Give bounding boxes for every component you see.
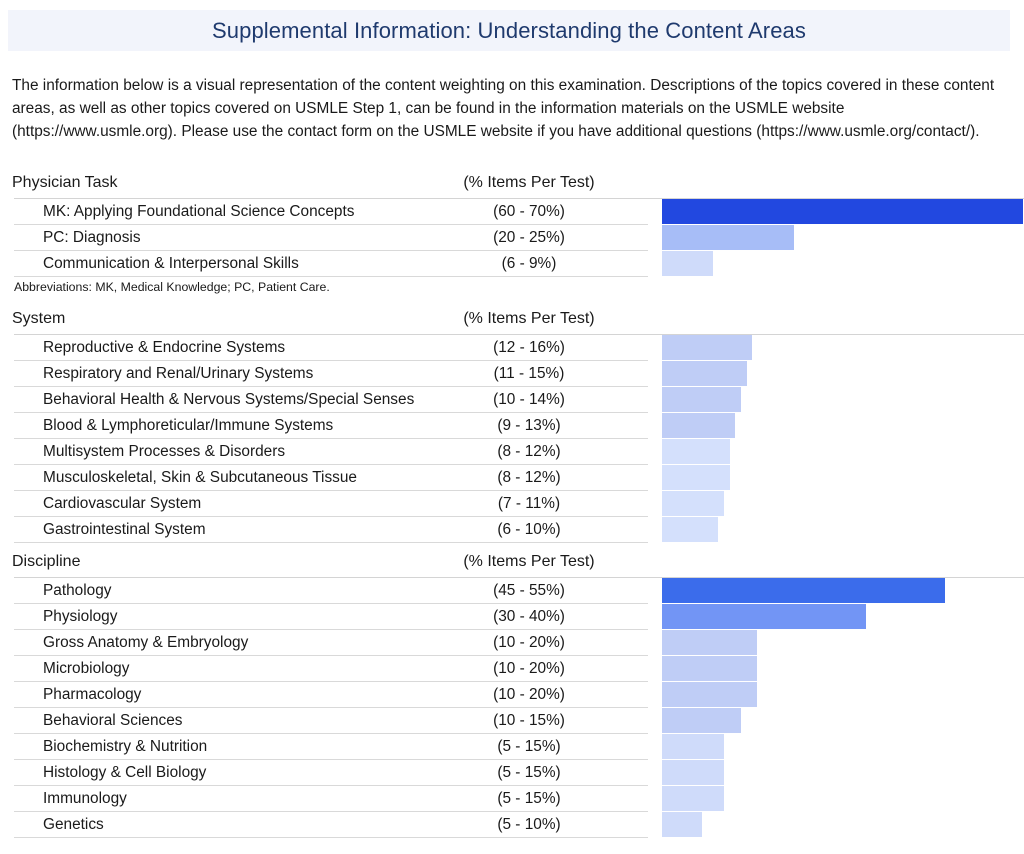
row-percent-range: (10 - 20%) [400,686,658,704]
row-label: Communication & Interpersonal Skills [43,255,299,273]
section-rows: Reproductive & Endocrine Systems(12 - 16… [14,334,1024,543]
row-label: Histology & Cell Biology [43,764,206,782]
section-footnote: Abbreviations: MK, Medical Knowledge; PC… [14,280,330,294]
section-rows: MK: Applying Foundational Science Concep… [14,198,1024,277]
row-label: Blood & Lymphoreticular/Immune Systems [43,417,333,435]
row-percent-range: (10 - 20%) [400,660,658,678]
row-label: Microbiology [43,660,129,678]
row-percent-range: (10 - 20%) [400,634,658,652]
table-row: Pathology(45 - 55%) [14,578,1024,604]
table-row: Immunology(5 - 15%) [14,786,1024,812]
table-row: Microbiology(10 - 20%) [14,656,1024,682]
row-bar [662,491,724,517]
section-unit-header: (% Items Per Test) [400,553,658,571]
row-label: Respiratory and Renal/Urinary Systems [43,365,313,383]
row-percent-range: (5 - 15%) [400,738,658,756]
table-row: Blood & Lymphoreticular/Immune Systems(9… [14,413,1024,439]
row-label: Gastrointestinal System [43,521,206,539]
page-title-band: Supplemental Information: Understanding … [8,10,1010,51]
row-label: Pharmacology [43,686,141,704]
row-bar [662,465,730,491]
row-bar [662,578,945,604]
table-row: Pharmacology(10 - 20%) [14,682,1024,708]
section-rows: Pathology(45 - 55%)Physiology(30 - 40%)G… [14,577,1024,838]
table-row: Biochemistry & Nutrition(5 - 15%) [14,734,1024,760]
row-bar [662,786,724,812]
row-label: Multisystem Processes & Disorders [43,443,285,461]
row-percent-range: (8 - 12%) [400,443,658,461]
section-physician-task: Physician Task(% Items Per Test)MK: Appl… [0,174,1024,277]
row-bar [662,335,752,361]
section-header: System(% Items Per Test) [0,310,1024,334]
row-bar [662,734,724,760]
table-row: Gastrointestinal System(6 - 10%) [14,517,1024,543]
row-label: Biochemistry & Nutrition [43,738,207,756]
row-bar [662,413,735,439]
row-bar [662,604,866,630]
table-row: Reproductive & Endocrine Systems(12 - 16… [14,335,1024,361]
row-percent-range: (60 - 70%) [400,203,658,221]
row-percent-range: (5 - 10%) [400,816,658,834]
row-percent-range: (6 - 9%) [400,255,658,273]
section-header: Physician Task(% Items Per Test) [0,174,1024,198]
row-label: PC: Diagnosis [43,229,141,247]
row-bar [662,251,713,277]
table-row: Cardiovascular System(7 - 11%) [14,491,1024,517]
row-label: Physiology [43,608,117,626]
row-label: Behavioral Sciences [43,712,182,730]
table-row: Communication & Interpersonal Skills(6 -… [14,251,1024,277]
row-bar [662,361,747,387]
table-row: Histology & Cell Biology(5 - 15%) [14,760,1024,786]
row-percent-range: (10 - 14%) [400,391,658,409]
row-bar [662,517,718,543]
table-row: Respiratory and Renal/Urinary Systems(11… [14,361,1024,387]
intro-paragraph: The information below is a visual repres… [12,75,1004,143]
row-label: Reproductive & Endocrine Systems [43,339,285,357]
table-row: Multisystem Processes & Disorders(8 - 12… [14,439,1024,465]
row-bar [662,656,757,682]
row-percent-range: (8 - 12%) [400,469,658,487]
row-percent-range: (10 - 15%) [400,712,658,730]
row-percent-range: (5 - 15%) [400,764,658,782]
row-bar [662,682,757,708]
row-label: Immunology [43,790,127,808]
row-percent-range: (20 - 25%) [400,229,658,247]
table-row: PC: Diagnosis(20 - 25%) [14,225,1024,251]
table-row: Musculoskeletal, Skin & Subcutaneous Tis… [14,465,1024,491]
row-percent-range: (12 - 16%) [400,339,658,357]
row-bar [662,760,724,786]
row-label: MK: Applying Foundational Science Concep… [43,203,354,221]
table-row: Behavioral Health & Nervous Systems/Spec… [14,387,1024,413]
row-percent-range: (11 - 15%) [400,365,658,383]
row-bar [662,439,730,465]
row-label: Pathology [43,582,111,600]
section-discipline: Discipline(% Items Per Test)Pathology(45… [0,553,1024,838]
row-bar [662,387,741,413]
section-unit-header: (% Items Per Test) [400,310,658,328]
section-title: Physician Task [12,174,118,192]
row-label: Cardiovascular System [43,495,201,513]
table-row: Gross Anatomy & Embryology(10 - 20%) [14,630,1024,656]
row-bar [662,630,757,656]
page-title: Supplemental Information: Understanding … [212,18,806,44]
section-system: System(% Items Per Test)Reproductive & E… [0,310,1024,543]
section-header: Discipline(% Items Per Test) [0,553,1024,577]
table-row: MK: Applying Foundational Science Concep… [14,199,1024,225]
section-title: Discipline [12,553,80,571]
row-percent-range: (5 - 15%) [400,790,658,808]
section-unit-header: (% Items Per Test) [400,174,658,192]
row-label: Gross Anatomy & Embryology [43,634,248,652]
table-row: Physiology(30 - 40%) [14,604,1024,630]
row-percent-range: (6 - 10%) [400,521,658,539]
table-row: Genetics(5 - 10%) [14,812,1024,838]
row-bar [662,199,1023,225]
section-title: System [12,310,65,328]
row-bar [662,708,741,734]
row-percent-range: (30 - 40%) [400,608,658,626]
row-label: Genetics [43,816,104,834]
row-bar [662,225,794,251]
row-bar [662,812,702,838]
row-label: Musculoskeletal, Skin & Subcutaneous Tis… [43,469,357,487]
table-row: Behavioral Sciences(10 - 15%) [14,708,1024,734]
row-percent-range: (7 - 11%) [400,495,658,513]
row-label: Behavioral Health & Nervous Systems/Spec… [43,391,414,409]
row-percent-range: (45 - 55%) [400,582,658,600]
row-percent-range: (9 - 13%) [400,417,658,435]
